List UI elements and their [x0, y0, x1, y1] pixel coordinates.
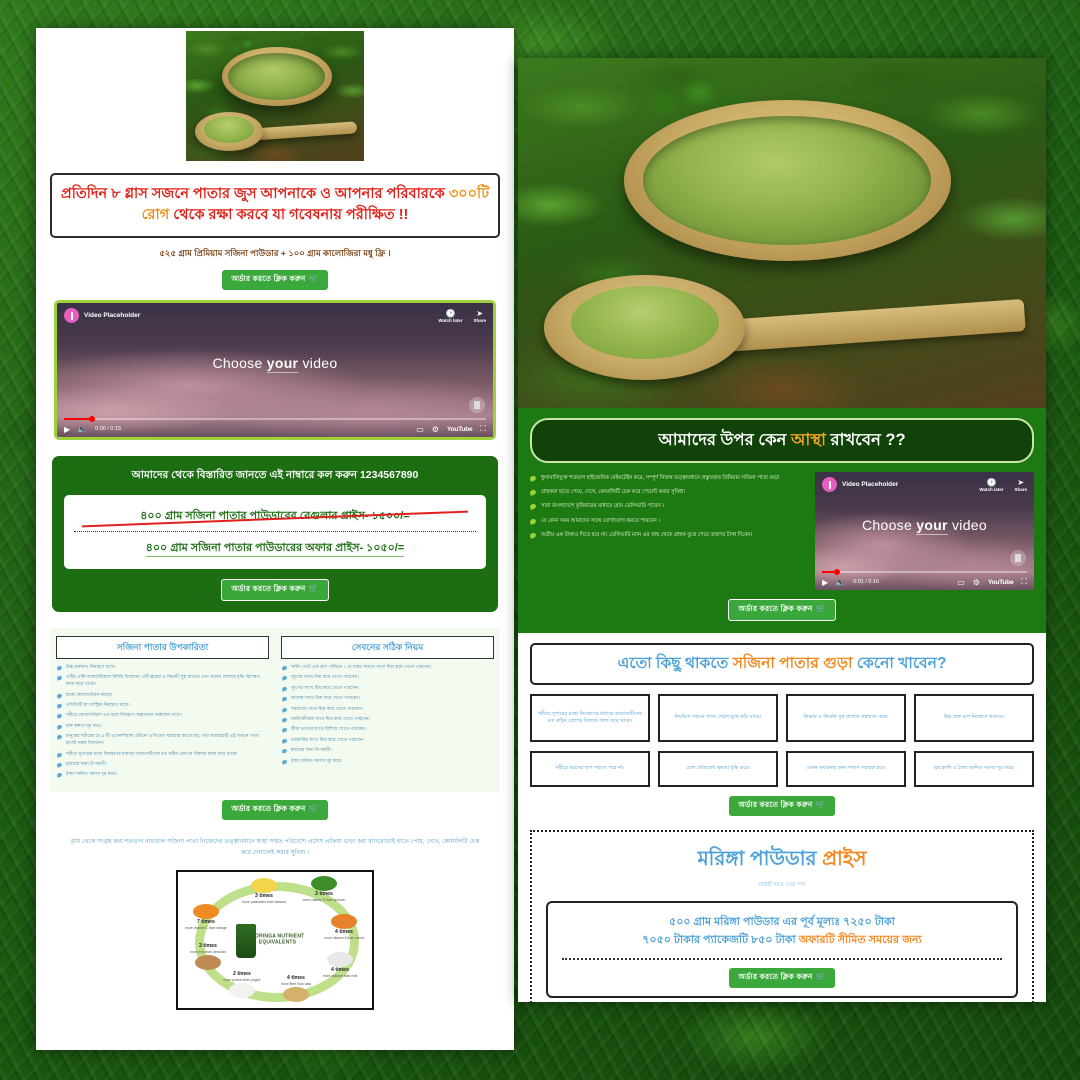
- share-button[interactable]: ➤Share: [473, 309, 486, 323]
- bowl-powder: [643, 116, 931, 245]
- moringa-nutrient-infographic: MORINGA NUTRIENT EQUIVALENTS 3 times mor…: [176, 870, 374, 1010]
- nutrient-node-protein: 2 times more protein than yogurt: [216, 972, 268, 999]
- list-item: ধুলাবালিযুক্ত শতভাগ হাইজেনিক মেইনটেইন কর…: [530, 474, 805, 482]
- cart-icon: 🛒: [815, 604, 825, 613]
- list-item: যে কোন সময় আমাদের সাথে যোগাযোগ করতে পার…: [530, 517, 805, 525]
- list-item: এটির এন্টি-ব্যাকটেরিয়াল বিশিষ্ট বিদ্যমা…: [56, 674, 269, 688]
- list-item: শরীরে কোলেস্টেরল এর মাত্রা নিয়ন্ত্রণে অ…: [56, 712, 269, 719]
- why-cell: উচ্চ রক্ত চাপ নিয়ন্ত্রণে থাকবে।: [914, 694, 1034, 742]
- clock-icon: 🕑: [979, 478, 1003, 487]
- nutrient-node-potassium: 3 times more potassium than banana: [238, 878, 290, 904]
- why-cell: শরীরে বয়সের ছাপ সহজে পরে না।: [530, 751, 650, 787]
- why-grid-row1: শরীরে সুগারের মাত্রা নিয়ন্ত্রণের মাধ্যম…: [530, 694, 1034, 742]
- offer-note: অফারটি সীমিত সময়ের জন্য: [799, 934, 922, 946]
- why-grid-row2: শরীরে বয়সের ছাপ সহজে পরে না। রোগ প্রতির…: [530, 751, 1034, 787]
- youtube-brand: YouTube: [988, 579, 1013, 586]
- list-item: আইসক্রীমের সাথে মিশ্র করে খেতে পারবেন।: [281, 716, 494, 723]
- list-item: স্যুপের সাথে মিশ্র করে খেতে পারবেন।: [281, 685, 494, 692]
- why-cell: ওজন কমানোর জন্য দারুণ সহায়ক হবে।: [786, 751, 906, 787]
- volume-icon[interactable]: 🔈: [835, 578, 845, 587]
- spinach-icon: [311, 876, 337, 891]
- order-cta-top[interactable]: অর্ডার করতে ক্লিক করুন🛒: [222, 270, 327, 290]
- why-cell: রোগ প্রতিরোধ ক্ষমতা বৃদ্ধি করে।: [658, 751, 778, 787]
- order-cta-final[interactable]: অর্ডার করতে ক্লিক করুন🛒: [729, 968, 834, 988]
- list-item: হজমের জন্য উপকারী।: [56, 761, 269, 768]
- price-title: মরিঙ্গা পাউডার প্রাইস: [546, 844, 1018, 877]
- watch-later-button[interactable]: 🕑Watch later: [979, 478, 1003, 492]
- video-center-text: Choose your video: [57, 355, 493, 371]
- price-dotted-frame: মরিঙ্গা পাউডার প্রাইস সাশ্রয়ী দামে সেরা…: [530, 830, 1034, 1002]
- video-player-left[interactable]: Video Placeholder 🕑Watch later ➤Share Ch…: [54, 300, 496, 440]
- settings-icon[interactable]: ⚙: [432, 425, 439, 434]
- share-icon: ➤: [473, 309, 486, 318]
- left-landing-page-panel: প্রতিদিন ৮ গ্লাস সজনে পাতার জুস আপনাকে ও…: [36, 28, 514, 1050]
- list-item: ঠান্ডা জনিত সমস্যা দূর করে।: [56, 771, 269, 778]
- video-progress-bar[interactable]: [822, 571, 1027, 573]
- clock-icon: 🕑: [438, 309, 462, 318]
- list-item: উচ্চ রক্তচাপ নিয়ন্ত্রণে রাখে।: [56, 664, 269, 671]
- final-price-section: মরিঙ্গা পাউডার প্রাইস সাশ্রয়ী দামে সেরা…: [518, 828, 1046, 1002]
- nutrient-node-vitamin-e: 3 times more vitamin E than spinach: [298, 876, 350, 902]
- phone-and-price-block: আমাদের থেকে বিস্তারিত জানতে এই নাম্বারে …: [52, 456, 498, 612]
- cart-icon: 🛒: [308, 274, 318, 283]
- list-item: শরীরে সুগারের মাত্রা নিয়ন্ত্রণের মাধ্যম…: [56, 751, 269, 758]
- play-icon[interactable]: ▶: [822, 578, 828, 587]
- price-card: ৪০০ গ্রাম সজিনা পাতার পাউডারের রেগুলার প…: [64, 495, 486, 569]
- video-player-right[interactable]: Video Placeholder 🕑Watch later ➤Share Ch…: [815, 472, 1034, 590]
- almonds-icon: [195, 955, 221, 970]
- nutrient-node-fiber: 4 times more fiber than oats: [270, 976, 322, 1003]
- list-item: জুসের সাথে মিশ্র করে খেতে পারবেন।: [281, 674, 494, 681]
- price-line-2: ৭০৫০ টাকার প্যাকেজটি ৮৫০ টাকা অফারটি সীম…: [558, 932, 1006, 950]
- milk-bottle-icon: [327, 952, 353, 967]
- main-headline: প্রতিদিন ৮ গ্লাস সজনে পাতার জুস আপনাকে ও…: [50, 173, 500, 238]
- rules-list: খালি পেটে এক গ্লাস পানিতে ১ চা চামচ সজনে…: [281, 664, 494, 764]
- hero-product-photo-right: [518, 58, 1046, 408]
- cart-icon: 🛒: [308, 804, 318, 813]
- video-timestamp: 0:01 / 0:16: [853, 579, 879, 585]
- price-subtitle: সাশ্রয়ী দামে সেরা পণ্য: [546, 882, 1018, 890]
- list-item: রক্ত স্বল্পতা দূর করে।: [56, 723, 269, 730]
- list-item: মানুষের শরীরের যে ৯ টি এসেনশিয়াল এমিনো …: [56, 733, 269, 747]
- list-item: এসিডিটি বা গ্যাস্ট্রিক নিয়ন্ত্রণে রাখে।: [56, 702, 269, 709]
- video-progress-bar[interactable]: [64, 418, 486, 420]
- hero-product-photo-left: [186, 31, 364, 161]
- benefits-and-rules-section: সজিনা পাতার উপকারিতা উচ্চ রক্তচাপ নিয়ন্…: [50, 628, 500, 792]
- video-center-text: Choose your video: [815, 517, 1034, 533]
- video-title: Video Placeholder: [84, 312, 140, 319]
- rules-column: সেবনের সঠিক নিয়ম খালি পেটে এক গ্লাস পান…: [281, 636, 494, 782]
- offer-price: ৪০০ গ্রাম সজিনা পাতার পাউডারের অফার প্রা…: [74, 532, 476, 560]
- order-cta-why[interactable]: অর্ডার করতে ক্লিক করুন🛒: [729, 796, 834, 816]
- wooden-bowl: [222, 47, 332, 107]
- order-cta-price[interactable]: অর্ডার করতে ক্লিক করুন🛒: [221, 579, 328, 601]
- list-item: খালি পেটে এক গ্লাস পানিতে ১ চা চামচ সজনে…: [281, 664, 494, 671]
- regular-price: ৪০০ গ্রাম সজিনা পাতার পাউডারের রেগুলার প…: [74, 504, 476, 532]
- list-item: তরকারির সাথে মিশ্র করে খেতে পারবেন।: [281, 737, 494, 744]
- spoon-powder: [204, 116, 254, 143]
- video-watermark-icon: [469, 397, 485, 413]
- video-timestamp: 0:00 / 0:15: [95, 426, 121, 432]
- carrot-icon: [331, 914, 357, 929]
- contact-phone-line: আমাদের থেকে বিস্তারিত জানতে এই নাম্বারে …: [64, 468, 486, 485]
- right-landing-page-panel: আমাদের উপর কেন আস্থা রাখবেন ?? ধুলাবালিয…: [518, 58, 1046, 1002]
- headline-part1: প্রতিদিন ৮ গ্লাস সজনে পাতার জুস আপনাকে ও…: [61, 186, 449, 202]
- cart-icon: 🛒: [815, 800, 825, 809]
- watch-later-button[interactable]: 🕑Watch later: [438, 309, 462, 323]
- trust-section: আমাদের উপর কেন আস্থা রাখবেন ?? ধুলাবালিয…: [518, 408, 1046, 633]
- offer-subline: ৫২৫ গ্রাম প্রিমিয়াম সজিনা পাউডার + ১০০ …: [46, 247, 504, 261]
- nutrient-node-vitamin-a: 4 times more vitamin A than carrot: [318, 914, 370, 940]
- why-cell: জ্বর,কাশি ও ঠান্ডা জনিত সমস্যা দূর করে।: [914, 751, 1034, 787]
- settings-icon[interactable]: ⚙: [973, 578, 980, 587]
- video-logo-icon: [64, 308, 79, 323]
- trust-banner-highlight: আস্থা: [791, 431, 826, 449]
- yogurt-icon: [229, 983, 255, 998]
- list-item: শরবতের সাথে মিশ্র করে খেতে পারবেন।: [281, 706, 494, 713]
- benefits-list: উচ্চ রক্তচাপ নিয়ন্ত্রণে রাখে। এটির এন্ট…: [56, 664, 269, 778]
- video-watermark-icon: [1010, 550, 1026, 566]
- price-title-highlight: প্রাইস: [822, 848, 866, 870]
- benefits-column: সজিনা পাতার উপকারিতা উচ্চ রক্তচাপ নিয়ন্…: [56, 636, 269, 782]
- captions-icon[interactable]: ▭: [957, 578, 965, 587]
- why-banner: এতো কিছু থাকতে সজিনা পাতার গুড়া কেনো খা…: [530, 643, 1034, 685]
- video-logo-icon: [822, 477, 837, 492]
- nutrient-node-calcium: 4 times more calcium than milk: [314, 952, 366, 978]
- play-icon[interactable]: ▶: [64, 425, 70, 434]
- price-line-1: ৫০০ গ্রাম মরিঙ্গা পাউডার এর পূর্ব মূল্যঃ…: [558, 914, 1006, 932]
- captions-icon[interactable]: ▭: [416, 425, 424, 434]
- volume-icon[interactable]: 🔈: [77, 425, 87, 434]
- oats-icon: [283, 987, 309, 1002]
- bowl-powder: [228, 53, 325, 101]
- why-cell: শরীরে সুগারের মাত্রা নিয়ন্ত্রণের মাধ্যম…: [530, 694, 650, 742]
- order-cta-mid[interactable]: অর্ডার করতে ক্লিক করুন🛒: [222, 800, 327, 820]
- why-cell: লিভার ও কিডনি সুস্থ রাখতে সহায়তা করে।: [786, 694, 906, 742]
- share-icon: ➤: [1014, 478, 1027, 487]
- headline-part2: থেকে রক্ষা করবে যা গবেষনায় পরীক্ষিত !!: [169, 207, 408, 223]
- youtube-brand: YouTube: [447, 426, 472, 433]
- list-item: হজমের জন্য উপকারী।: [281, 747, 494, 754]
- list-item: অগ্রীম এক টাকাও দিতে হবে না। ডেলিভারি ম্…: [530, 531, 805, 539]
- cart-icon: 🛒: [308, 584, 318, 593]
- wooden-bowl: [624, 100, 951, 261]
- divider: [562, 958, 1002, 960]
- order-cta-trust[interactable]: অর্ডার করতে ক্লিক করুন🛒: [728, 599, 835, 621]
- list-item: কীরা ভাতের সাথে মিশিয়ে খেতে পারবেন।: [281, 726, 494, 733]
- rules-heading: সেবনের সঠিক নিয়ম: [281, 636, 494, 659]
- list-item: গ্রাহকরা হাতে পেয়ে, দেখে, কোয়ালিটি চেক…: [530, 488, 805, 496]
- why-cell: নিয়মিত সজনে পাতা খেলে মুখে রুচি বাড়ে।: [658, 694, 778, 742]
- list-item: সারা বাংলাদেশে কুরিয়ারের মাধ্যমে হোম ডে…: [530, 502, 805, 510]
- list-item: ঠান্ডা জনিত সমস্যা দূর করে।: [281, 758, 494, 765]
- nutrient-node-vitamin-c: 7 times more vitamin C than orange: [180, 904, 232, 930]
- spoon-powder: [571, 286, 719, 360]
- list-item: রক্তে কোলেস্টেরল কমায়।: [56, 692, 269, 699]
- nutrient-node-iron: 3 times more iron than almonds: [182, 944, 234, 971]
- banana-icon: [251, 878, 277, 893]
- trust-points-list: ধুলাবালিযুক্ত শতভাগ হাইজেনিক মেইনটেইন কর…: [530, 472, 805, 545]
- why-choose-section: এতো কিছু থাকতে সজিনা পাতার গুড়া কেনো খা…: [518, 633, 1046, 828]
- list-item: ডালের সাথে মিশ্র করে খেতে পারবেন।: [281, 695, 494, 702]
- fullscreen-icon[interactable]: ⛶: [480, 424, 486, 434]
- cart-icon: 🛒: [815, 972, 825, 981]
- why-banner-highlight: সজিনা পাতার গুড়া: [733, 655, 853, 672]
- trust-banner: আমাদের উপর কেন আস্থা রাখবেন ??: [530, 418, 1034, 463]
- share-button[interactable]: ➤Share: [1014, 478, 1027, 492]
- fullscreen-icon[interactable]: ⛶: [1021, 577, 1027, 587]
- video-title: Video Placeholder: [842, 481, 898, 488]
- benefits-heading: সজিনা পাতার উপকারিতা: [56, 636, 269, 659]
- orange-icon: [193, 904, 219, 919]
- final-price-card: ৫০০ গ্রাম মরিঙ্গা পাউডার এর পূর্ব মূল্যঃ…: [546, 901, 1018, 998]
- closing-paragraph: গ্রাম থেকে সংগ্রহ করা শতভাগ নাচারাল সজিন…: [68, 836, 482, 859]
- green-juice-glass: [236, 924, 256, 958]
